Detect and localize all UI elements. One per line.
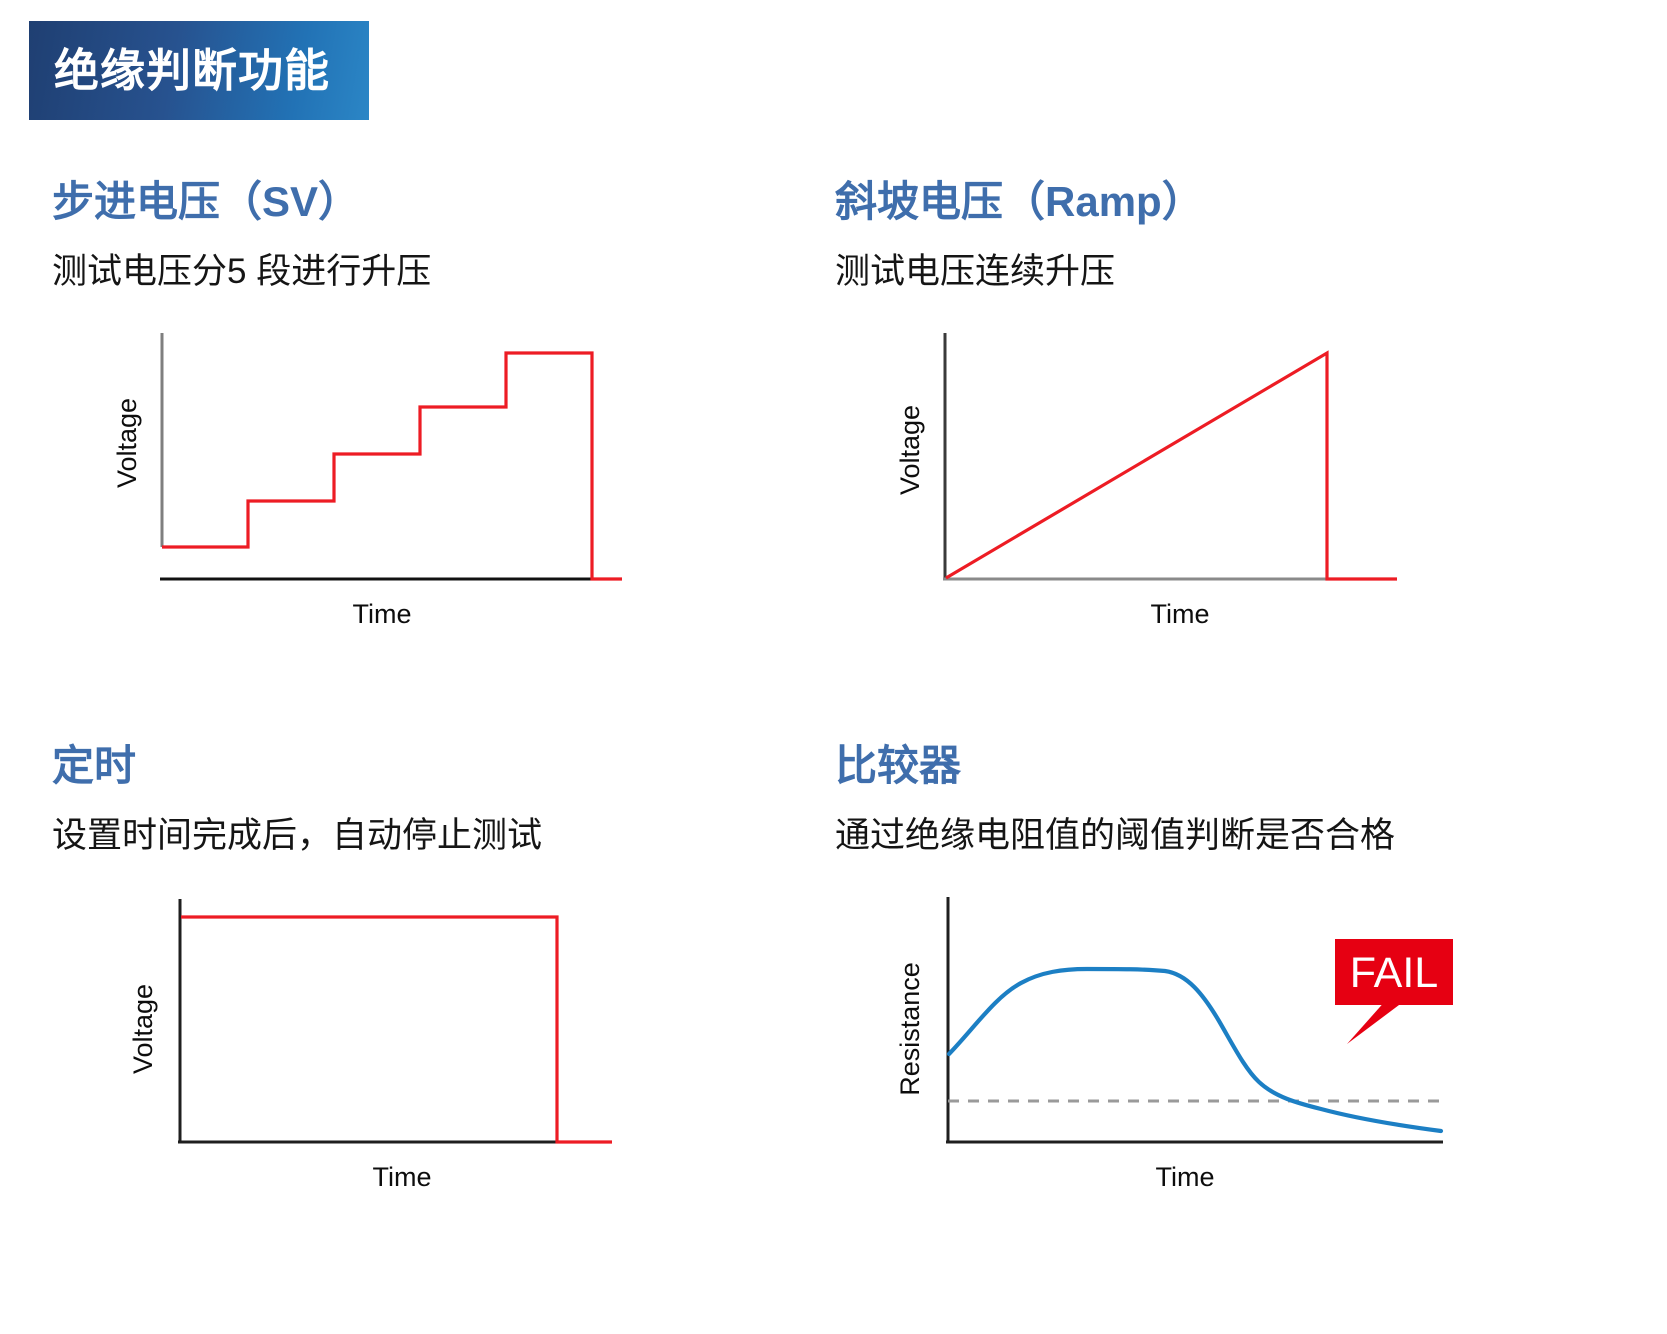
panel-title-timer: 定时 (52, 742, 812, 790)
panel-timer: 定时 设置时间完成后，自动停止测试 Voltage Time (52, 742, 812, 1209)
chart-comparator: FAIL Resistance Time (835, 879, 1475, 1209)
panel-title-ramp-voltage: 斜坡电压（Ramp） (835, 178, 1595, 226)
x-axis-label: Time (1156, 1162, 1215, 1192)
slide-root: { "header": { "title": "绝缘判断功能", "gradie… (0, 0, 1667, 1334)
chart-timer: Voltage Time (52, 879, 632, 1209)
page-title: 绝缘判断功能 (54, 48, 330, 93)
y-axis-label: Voltage (128, 984, 158, 1074)
chart-ramp-voltage: Voltage Time (835, 315, 1415, 645)
x-axis-label: Time (353, 599, 412, 629)
fail-badge-label: FAIL (1350, 949, 1438, 997)
series-voltage-timer-trace (181, 917, 612, 1142)
panel-title-comparator: 比较器 (835, 742, 1595, 790)
series-voltage-step-trace (162, 353, 622, 579)
panel-description-comparator: 通过绝缘电阻值的阈值判断是否合格 (835, 816, 1595, 856)
panel-step-voltage: 步进电压（SV） 测试电压分5 段进行升压 Voltage Time (52, 178, 812, 645)
panel-comparator: 比较器 通过绝缘电阻值的阈值判断是否合格 FAIL Resistance Tim… (835, 742, 1595, 1209)
chart-step-voltage: Voltage Time (52, 315, 632, 645)
x-axis-label: Time (373, 1162, 432, 1192)
panel-title-step-voltage: 步进电压（SV） (52, 178, 812, 226)
panel-description-ramp-voltage: 测试电压连续升压 (835, 252, 1595, 292)
x-axis-label: Time (1151, 599, 1210, 629)
header-badge: 绝缘判断功能 (29, 21, 369, 120)
panel-ramp-voltage: 斜坡电压（Ramp） 测试电压连续升压 Voltage Time (835, 178, 1595, 645)
y-axis-label: Voltage (895, 405, 925, 495)
fail-callout-tail (1347, 999, 1407, 1044)
series-voltage-ramp-trace (946, 353, 1397, 579)
panel-description-step-voltage: 测试电压分5 段进行升压 (52, 252, 812, 292)
y-axis-label: Resistance (895, 962, 925, 1096)
y-axis-label: Voltage (112, 398, 142, 488)
panel-description-timer: 设置时间完成后，自动停止测试 (52, 816, 812, 856)
